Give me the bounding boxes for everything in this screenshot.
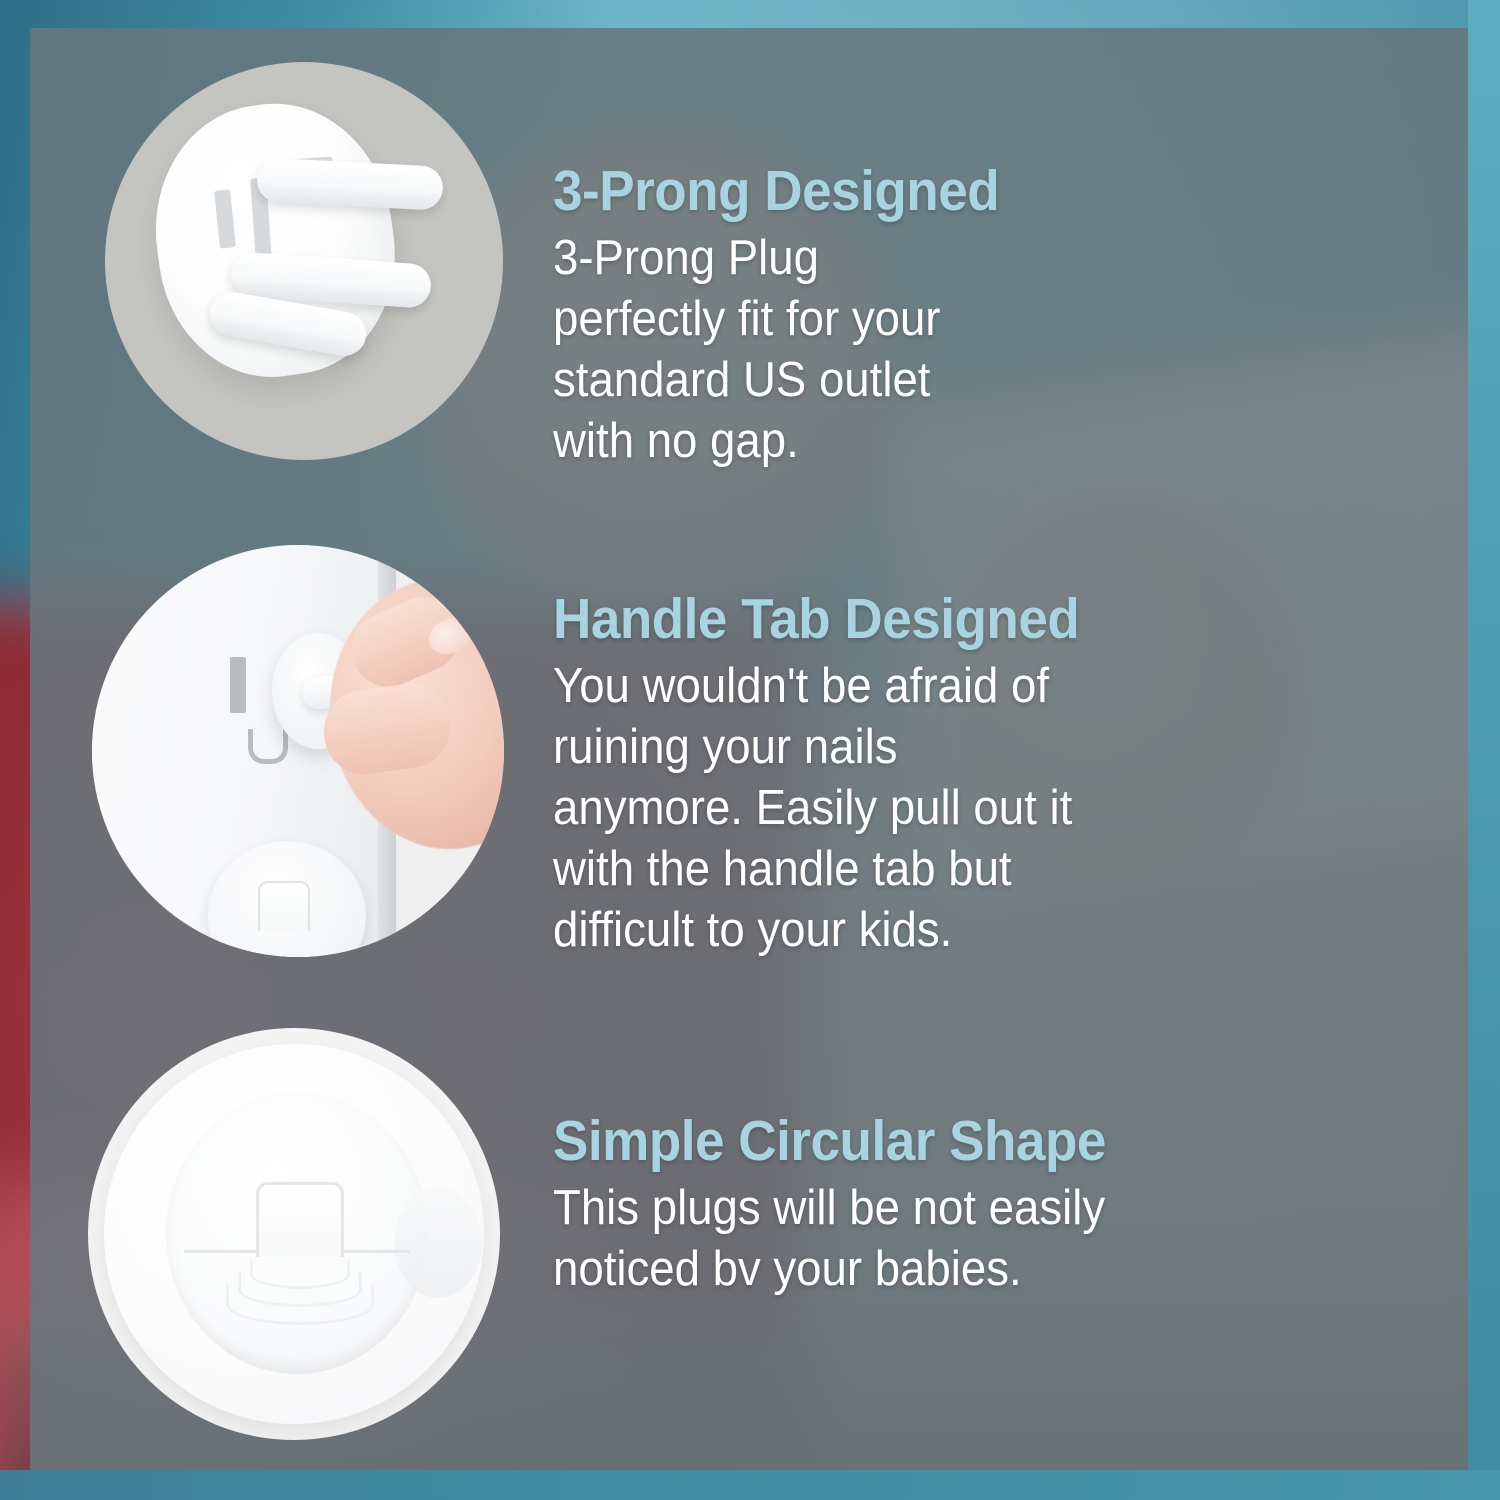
feature-text-circular-shape: Simple Circular Shape This plugs will be… — [553, 1110, 1148, 1300]
infographic-canvas: 3-Prong Designed 3-Prong Plug perfectly … — [0, 0, 1500, 1500]
cover-side-disc: ner v on — [394, 1188, 482, 1298]
plug-body-shape — [139, 89, 411, 391]
cover-seam-left — [184, 1250, 260, 1253]
feature-image-handle-tab — [92, 545, 504, 957]
feature-text-handle-tab: Handle Tab Designed You wouldn't be afra… — [553, 588, 1119, 961]
cover-seam-right — [334, 1250, 410, 1253]
feature-heading: Handle Tab Designed — [553, 588, 1079, 650]
installed-cover-tab — [258, 881, 310, 931]
cover-grip-ripple-3 — [226, 1284, 374, 1325]
cover-handle-tab-shape — [256, 1182, 344, 1257]
feature-heading: Simple Circular Shape — [553, 1110, 1106, 1172]
feature-image-three-prong — [105, 62, 503, 460]
feature-text-three-prong: 3-Prong Designed 3-Prong Plug perfectly … — [553, 160, 1033, 472]
feature-body: You wouldn't be afraid of ruining your n… — [553, 656, 1079, 961]
feature-heading: 3-Prong Designed — [553, 160, 999, 222]
socket-ground-hole — [248, 729, 288, 764]
feature-image-circular-shape: ner v on — [88, 1028, 500, 1440]
feature-body: This plugs will be not easily noticed bv… — [553, 1178, 1106, 1300]
feature-body: 3-Prong Plug perfectly fit for your stan… — [553, 228, 999, 472]
socket-slot-left — [230, 657, 246, 713]
features-list: 3-Prong Designed 3-Prong Plug perfectly … — [0, 0, 1500, 1500]
